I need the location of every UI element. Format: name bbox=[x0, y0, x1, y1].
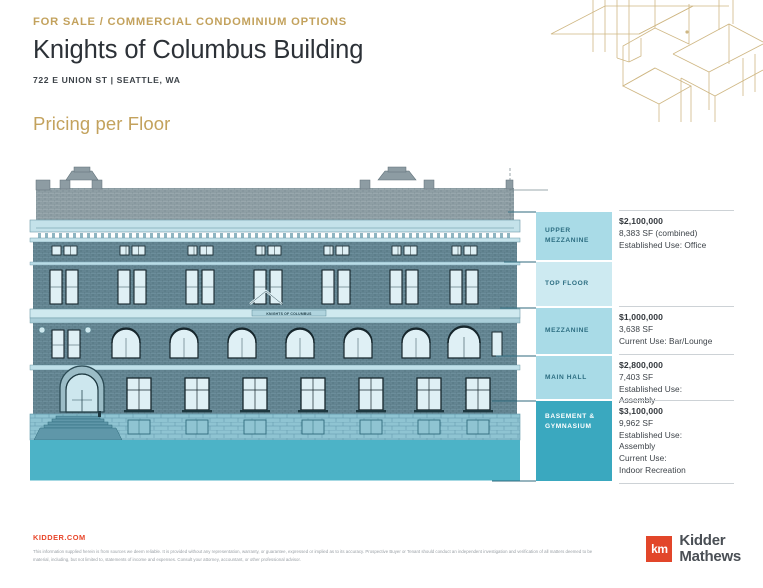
legal-disclaimer: This information supplied herein is from… bbox=[33, 548, 598, 565]
floor-label-upper-mezzanine-line1: UPPER bbox=[545, 226, 589, 236]
floor-block-basement-gymnasium[interactable]: BASEMENT & GYMNASIUM bbox=[536, 401, 612, 481]
price-sf-mezzanine: 3,638 SF bbox=[619, 324, 739, 336]
price-sf-basement: 9,962 SF bbox=[619, 418, 739, 430]
price-use-basement-0: Established Use: bbox=[619, 430, 739, 442]
floor-block-upper-mezzanine[interactable]: UPPER MEZZANINE bbox=[536, 212, 612, 260]
kidder-website-link[interactable]: KIDDER.COM bbox=[33, 533, 86, 542]
kidder-mathews-wordmark: Kidder Mathews bbox=[679, 533, 741, 565]
floor-label-mezzanine: MEZZANINE bbox=[545, 326, 589, 336]
building-signage-text: KNIGHTS OF COLUMBUS bbox=[266, 312, 312, 316]
price-rule-basement bbox=[619, 400, 734, 401]
km-logo-mark-text: km bbox=[651, 543, 668, 555]
floor-block-main-hall[interactable]: MAIN HALL bbox=[536, 356, 612, 399]
price-use-basement-1: Assembly bbox=[619, 441, 739, 453]
floor-label-basement-line1: BASEMENT & bbox=[545, 412, 595, 422]
price-item-upper-mezzanine: $2,100,000 8,383 SF (combined) Establish… bbox=[619, 216, 739, 251]
floor-leader-lines bbox=[478, 150, 538, 490]
floor-block-mezzanine[interactable]: MEZZANINE bbox=[536, 308, 612, 354]
floor-label-top-floor: TOP FLOOR bbox=[545, 279, 589, 289]
kidder-mathews-logo: km Kidder Mathews bbox=[646, 533, 741, 565]
floor-block-top-floor[interactable]: TOP FLOOR bbox=[536, 262, 612, 306]
logo-wordmark-line1: Kidder bbox=[679, 533, 741, 549]
page-title: Knights of Columbus Building bbox=[33, 35, 533, 66]
price-amount-main-hall: $2,800,000 bbox=[619, 360, 739, 372]
building-diagram: KNIGHTS OF COLUMBUS bbox=[0, 150, 763, 505]
page-header: FOR SALE / COMMERCIAL CONDOMINIUM OPTION… bbox=[33, 16, 533, 85]
km-logo-mark: km bbox=[646, 536, 672, 562]
price-rule-mezzanine bbox=[619, 306, 734, 307]
price-item-basement-gymnasium: $3,100,000 9,962 SF Established Use: Ass… bbox=[619, 406, 739, 477]
price-sf-main-hall: 7,403 SF bbox=[619, 372, 739, 384]
price-sf-upper-mezzanine: 8,383 SF (combined) bbox=[619, 228, 739, 240]
price-rule-bottom bbox=[619, 483, 734, 484]
floor-label-upper-mezzanine-line2: MEZZANINE bbox=[545, 236, 589, 246]
section-title: Pricing per Floor bbox=[33, 113, 170, 135]
floor-label-basement-line2: GYMNASIUM bbox=[545, 422, 595, 432]
price-amount-mezzanine: $1,000,000 bbox=[619, 312, 739, 324]
price-rule-main-hall bbox=[619, 354, 734, 355]
wireframe-svg bbox=[533, 0, 763, 122]
price-amount-upper-mezzanine: $2,100,000 bbox=[619, 216, 739, 228]
price-use-upper-mezzanine-0: Established Use: Office bbox=[619, 240, 739, 252]
price-item-mezzanine: $1,000,000 3,638 SF Current Use: Bar/Lou… bbox=[619, 312, 739, 347]
decorative-wireframe-graphic bbox=[533, 0, 763, 122]
price-use-basement-3: Indoor Recreation bbox=[619, 465, 739, 477]
floor-label-column: UPPER MEZZANINE TOP FLOOR MEZZANINE MAIN… bbox=[536, 150, 612, 490]
header-eyebrow: FOR SALE / COMMERCIAL CONDOMINIUM OPTION… bbox=[33, 16, 533, 29]
logo-wordmark-line2: Mathews bbox=[679, 549, 741, 565]
price-amount-basement: $3,100,000 bbox=[619, 406, 739, 418]
property-address: 722 E UNION ST | SEATTLE, WA bbox=[33, 75, 533, 85]
price-use-main-hall-0: Established Use: bbox=[619, 384, 739, 396]
price-use-mezzanine-0: Current Use: Bar/Lounge bbox=[619, 336, 739, 348]
floor-label-main-hall: MAIN HALL bbox=[545, 373, 587, 383]
price-rule-top bbox=[619, 210, 734, 211]
price-use-basement-2: Current Use: bbox=[619, 453, 739, 465]
